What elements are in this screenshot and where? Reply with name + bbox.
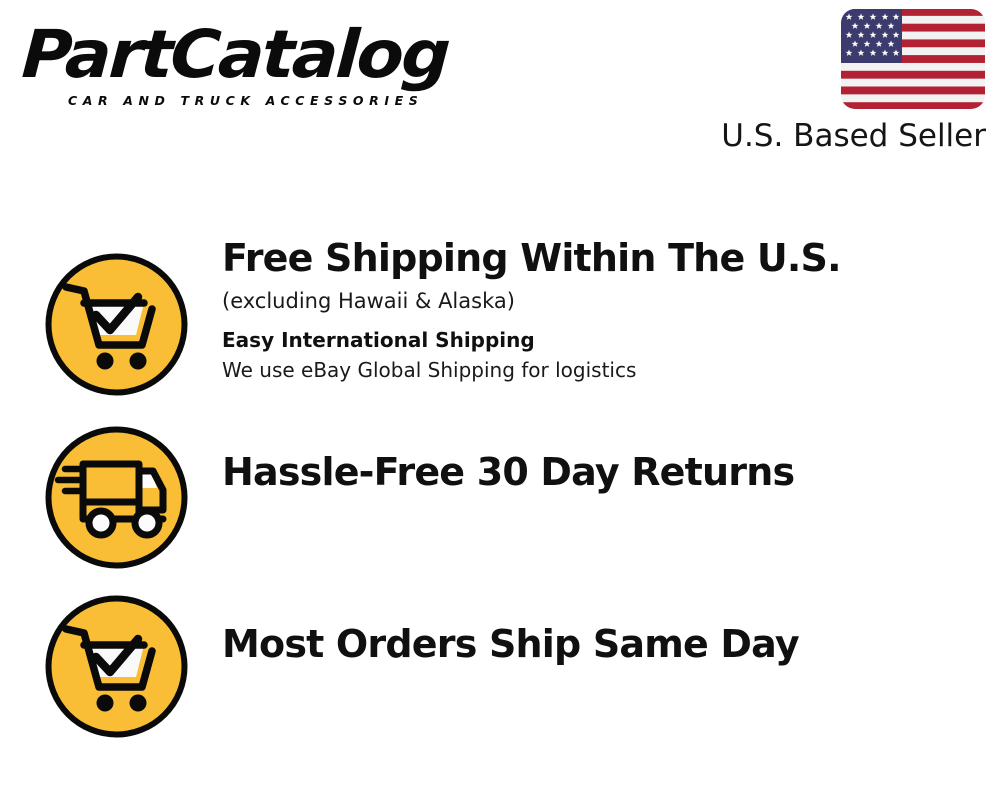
shopping-cart-check-icon [43,251,190,398]
feature-text-block: Free Shipping Within The U.S. (excluding… [222,230,1000,384]
feature-title: Free Shipping Within The U.S. [222,236,1000,280]
feature-row: Most Orders Ship Same Day [0,572,1000,732]
feature-row: Hassle-Free 30 Day Returns [0,402,1000,572]
feature-secondary-subtitle: We use eBay Global Shipping for logistic… [222,356,1000,384]
us-based-seller-label: U.S. Based Seller [716,119,986,153]
brand-logo[interactable]: PartCatalog CAR AND TRUCK ACCESSORIES [22,24,492,108]
feature-subtitle: (excluding Hawaii & Alaska) [222,286,1000,316]
feature-title: Most Orders Ship Same Day [222,622,1000,666]
brand-wordmark: PartCatalog [20,24,512,87]
feature-list: Free Shipping Within The U.S. (excluding… [0,230,1000,732]
us-flag-icon [840,8,986,110]
page-header: PartCatalog CAR AND TRUCK ACCESSORIES [0,0,1000,170]
feature-secondary-title: Easy International Shipping [222,326,1000,354]
feature-title: Hassle-Free 30 Day Returns [222,450,1000,494]
feature-text-block: Most Orders Ship Same Day [222,572,1000,666]
us-based-seller-badge: U.S. Based Seller [716,8,986,153]
feature-row: Free Shipping Within The U.S. (excluding… [0,230,1000,402]
feature-text-block: Hassle-Free 30 Day Returns [222,402,1000,494]
brand-tagline: CAR AND TRUCK ACCESSORIES [68,93,492,108]
shopping-cart-check-icon [43,593,190,740]
delivery-truck-icon [43,424,190,571]
